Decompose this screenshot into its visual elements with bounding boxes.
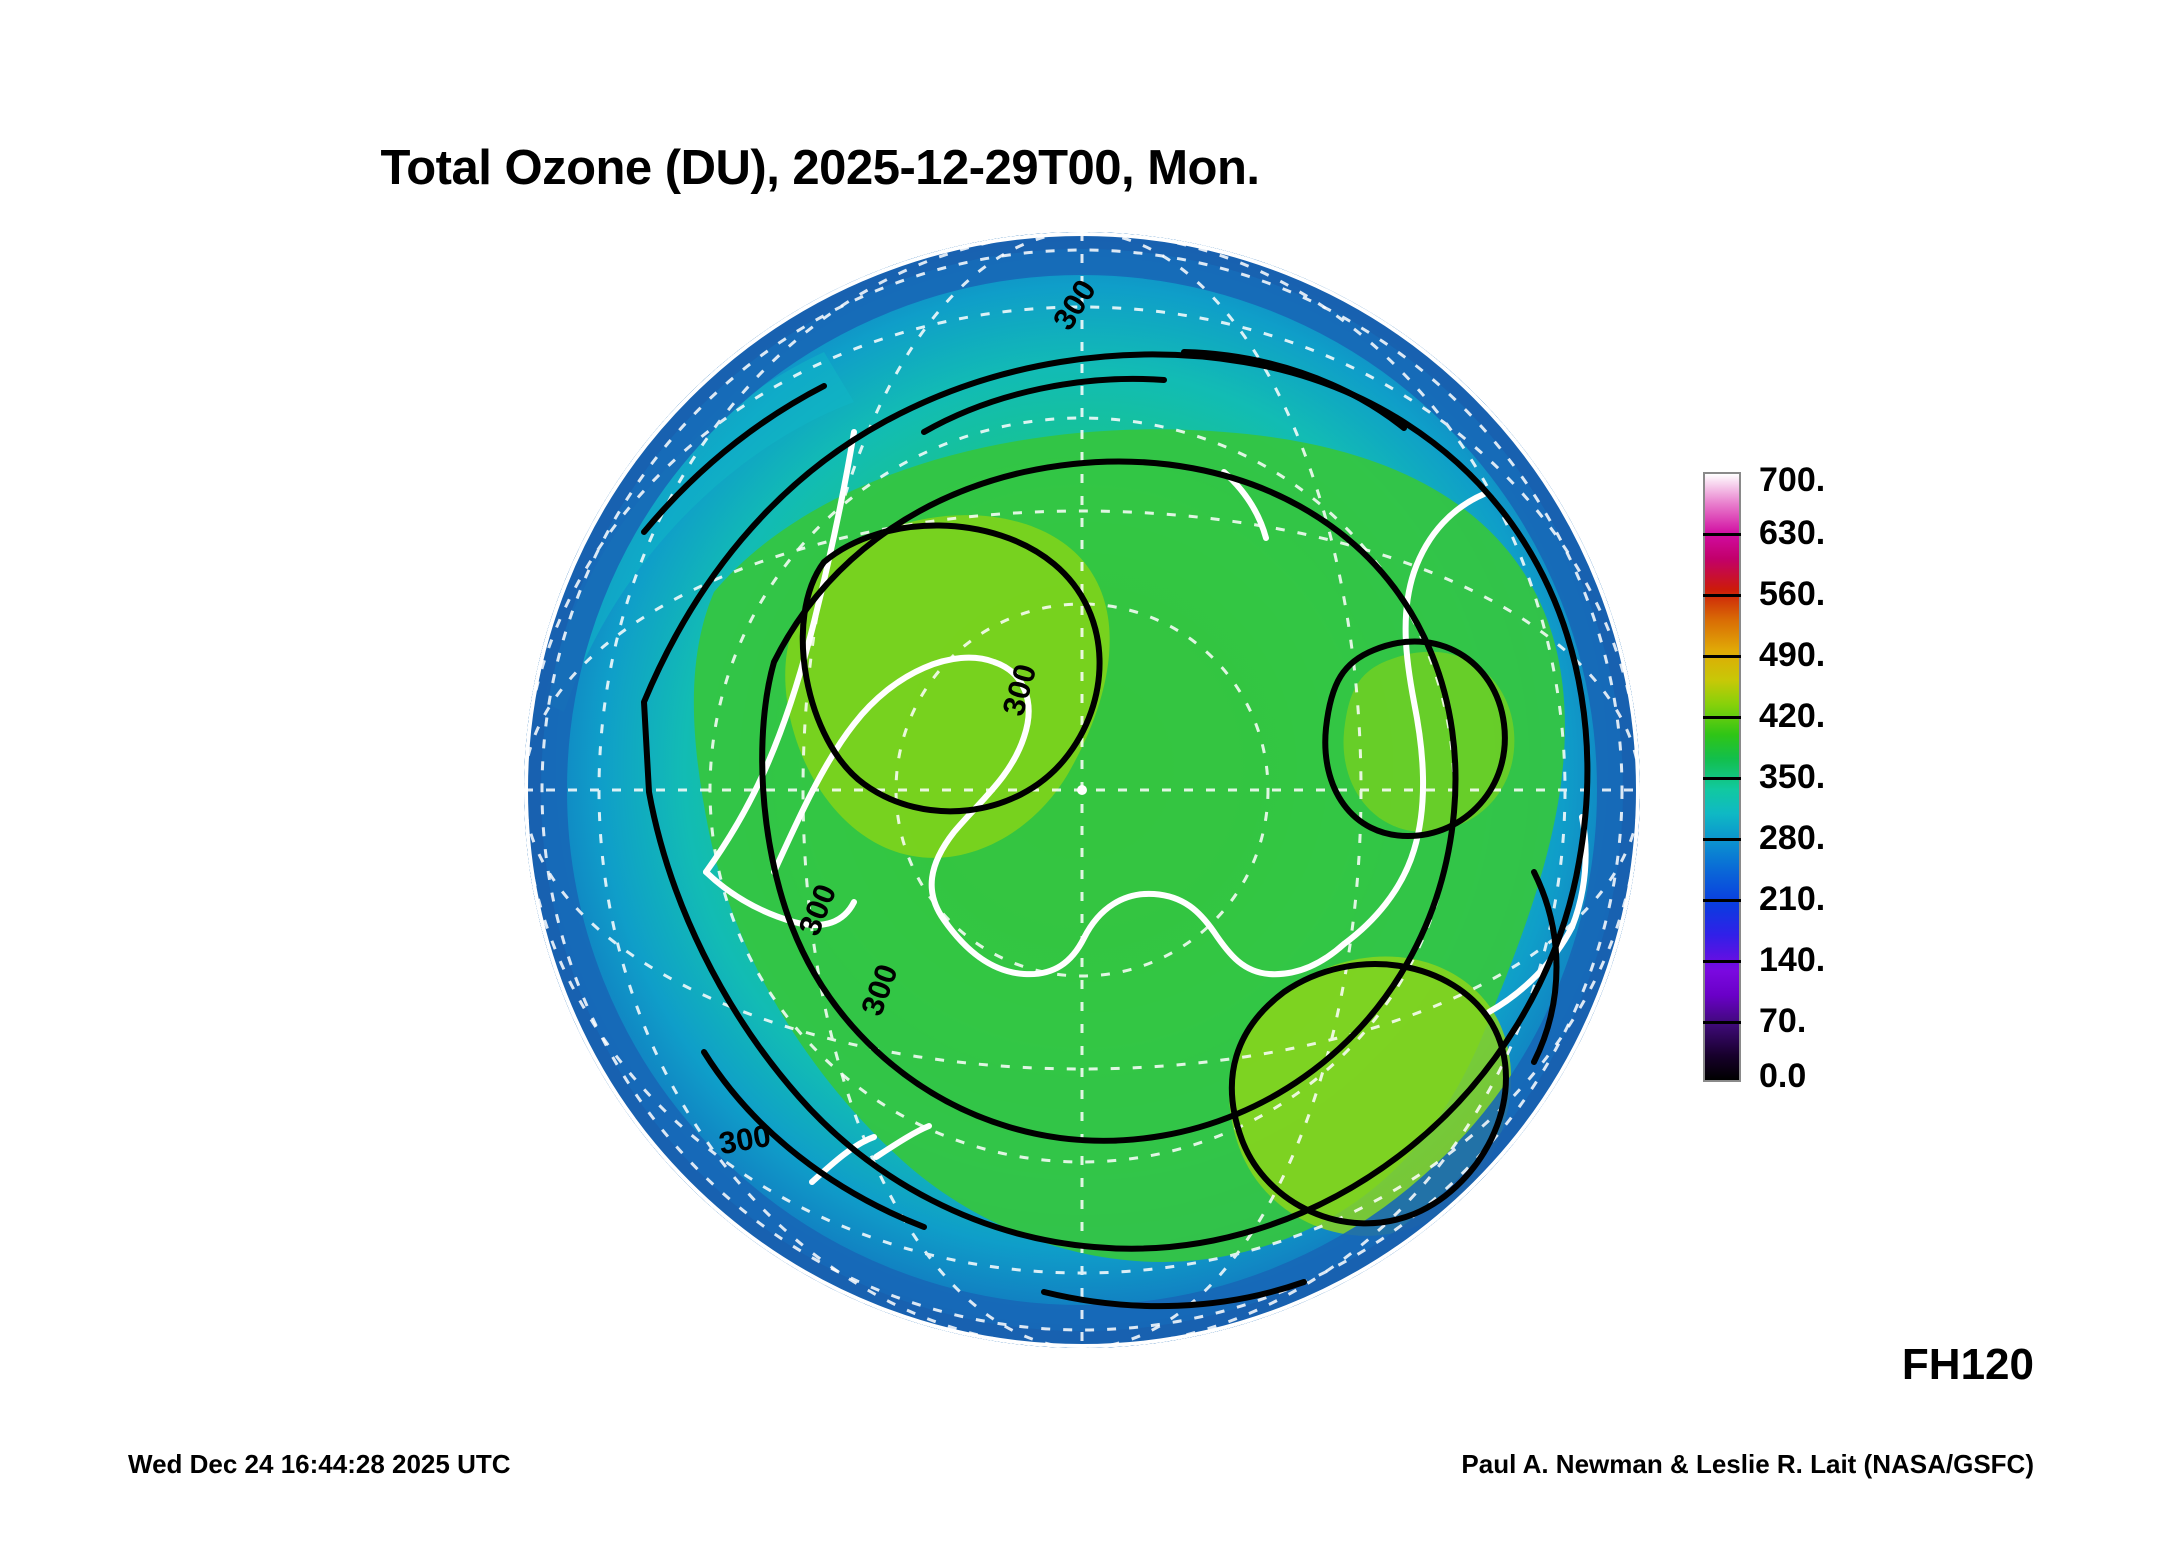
colorbar: 700. 630. 560. 490. 420. 350. 280. 210. … bbox=[1703, 472, 2003, 1082]
page-title: Total Ozone (DU), 2025-12-29T00, Mon. bbox=[0, 140, 1640, 196]
colorbar-label-140: 140. bbox=[1759, 943, 1825, 977]
forecast-hour-label: FH120 bbox=[1902, 1340, 2034, 1390]
colorbar-label-210: 210. bbox=[1759, 882, 1825, 916]
colorbar-label-560: 560. bbox=[1759, 577, 1825, 611]
ozone-field bbox=[524, 232, 1640, 1348]
colorbar-label-630: 630. bbox=[1759, 516, 1825, 550]
colorbar-tick bbox=[1703, 899, 1741, 902]
colorbar-label-490: 490. bbox=[1759, 638, 1825, 672]
colorbar-tick bbox=[1703, 655, 1741, 658]
ozone-map: 300 300 300 300 300 bbox=[524, 232, 1640, 1348]
colorbar-tick bbox=[1703, 716, 1741, 719]
colorbar-tick bbox=[1703, 838, 1741, 841]
colorbar-tick bbox=[1703, 533, 1741, 536]
generation-timestamp: Wed Dec 24 16:44:28 2025 UTC bbox=[128, 1449, 511, 1480]
colorbar-label-280: 280. bbox=[1759, 821, 1825, 855]
colorbar-label-70: 70. bbox=[1759, 1004, 1806, 1038]
colorbar-tick bbox=[1703, 777, 1741, 780]
colorbar-tick bbox=[1703, 960, 1741, 963]
colorbar-label-350: 350. bbox=[1759, 760, 1825, 794]
author-credit: Paul A. Newman & Leslie R. Lait (NASA/GS… bbox=[1461, 1449, 2034, 1480]
colorbar-label-0: 0.0 bbox=[1759, 1059, 1806, 1093]
globe-disc: 300 300 300 300 300 bbox=[524, 232, 1640, 1348]
colorbar-tick bbox=[1703, 1021, 1741, 1024]
colorbar-tick bbox=[1703, 594, 1741, 597]
colorbar-label-700: 700. bbox=[1759, 463, 1825, 497]
colorbar-label-420: 420. bbox=[1759, 699, 1825, 733]
